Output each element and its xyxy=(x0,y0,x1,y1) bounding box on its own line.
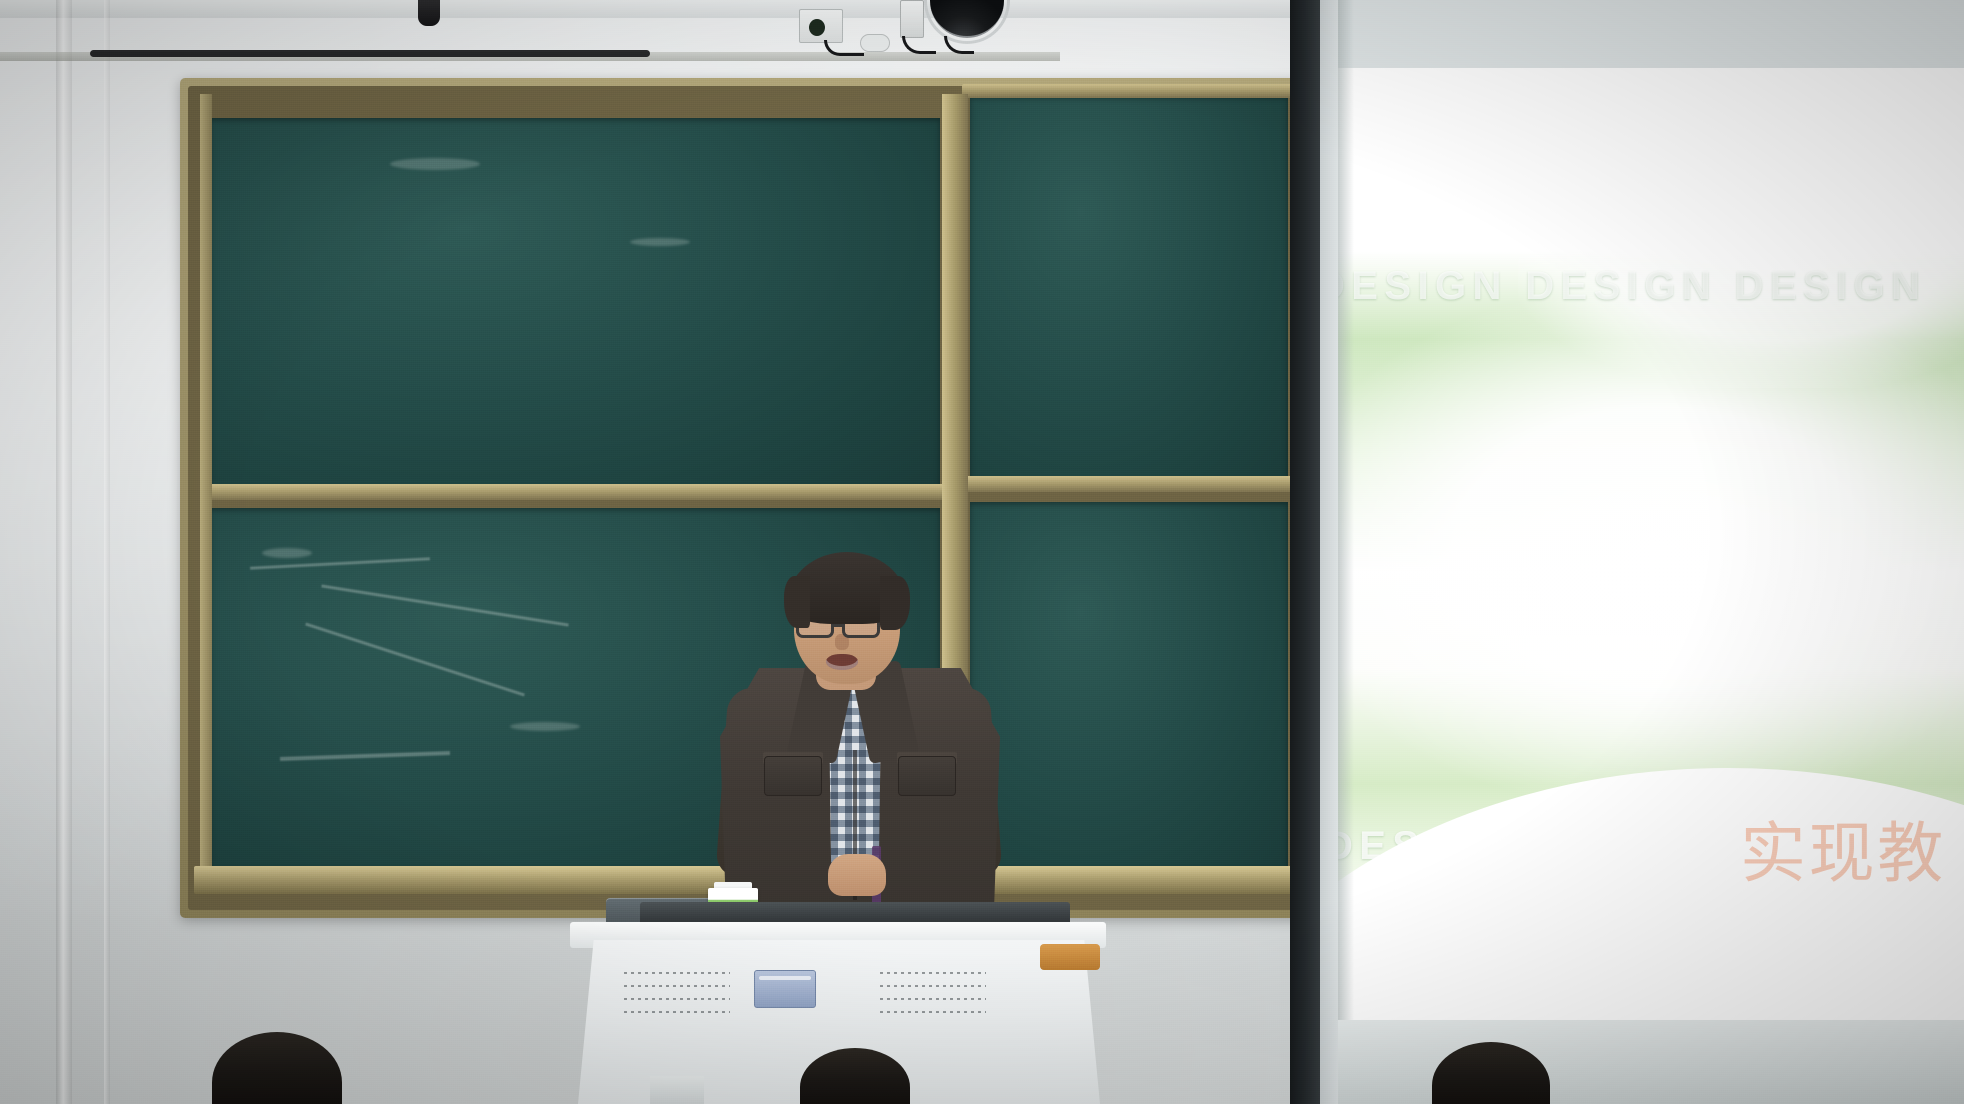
ceiling-cable-run xyxy=(90,50,650,57)
projected-slide: DESIGN DESIGN DESIGN DESIGN D 实现教 xyxy=(1338,68,1964,1036)
wall-outlet-icon xyxy=(799,9,843,43)
chalkboard-panel-upper-left xyxy=(210,118,940,488)
presenter-hair-left xyxy=(784,576,810,628)
chalkboard-panel-upper-right xyxy=(970,96,1288,482)
chalkboard-rail-left-edge xyxy=(200,94,212,872)
wall-upper-beam xyxy=(0,0,1290,18)
classroom-photo: DESIGN DESIGN DESIGN DESIGN D 实现教 xyxy=(0,0,1964,1104)
presenter-hair-right xyxy=(880,576,910,630)
slide-highlight-center xyxy=(1338,288,1964,808)
cable-clamp-plate xyxy=(860,34,890,52)
podium-side-panel xyxy=(1040,944,1100,970)
projection-screen[interactable]: DESIGN DESIGN DESIGN DESIGN D 实现教 xyxy=(1338,0,1964,1104)
wall-seam-left xyxy=(56,0,72,1104)
presenter-pocket-left xyxy=(764,756,822,796)
presenter-hands xyxy=(828,854,886,896)
podium-vent-right xyxy=(880,962,986,1024)
presenter-pocket-right xyxy=(898,756,956,796)
chalkboard-rail-mid-left xyxy=(202,484,950,500)
podium-vent-left xyxy=(624,962,730,1024)
ceiling-mount-bracket xyxy=(418,0,440,26)
presenter-mouth xyxy=(826,654,858,670)
podium-info-plate xyxy=(754,970,816,1008)
chalkboard-rail-top-right xyxy=(962,84,1296,98)
wall-seam-left-secondary xyxy=(104,0,110,1104)
screen-left-shadow xyxy=(1338,0,1354,1104)
podium-base-leg xyxy=(650,1076,704,1104)
screen-frame-gap xyxy=(1320,0,1338,1104)
junction-box-icon xyxy=(900,0,924,38)
slide-headline-chinese: 实现教 xyxy=(1740,800,1946,896)
slide-watermark-top: DESIGN DESIGN DESIGN xyxy=(1338,264,1926,309)
slide-top-blowout xyxy=(1348,68,1964,200)
glasses-bridge-icon xyxy=(834,624,844,627)
screen-frame-bezel xyxy=(1290,0,1320,1104)
chalkboard-panel-lower-right xyxy=(970,502,1288,868)
chalkboard-rail-mid-right xyxy=(962,476,1296,492)
